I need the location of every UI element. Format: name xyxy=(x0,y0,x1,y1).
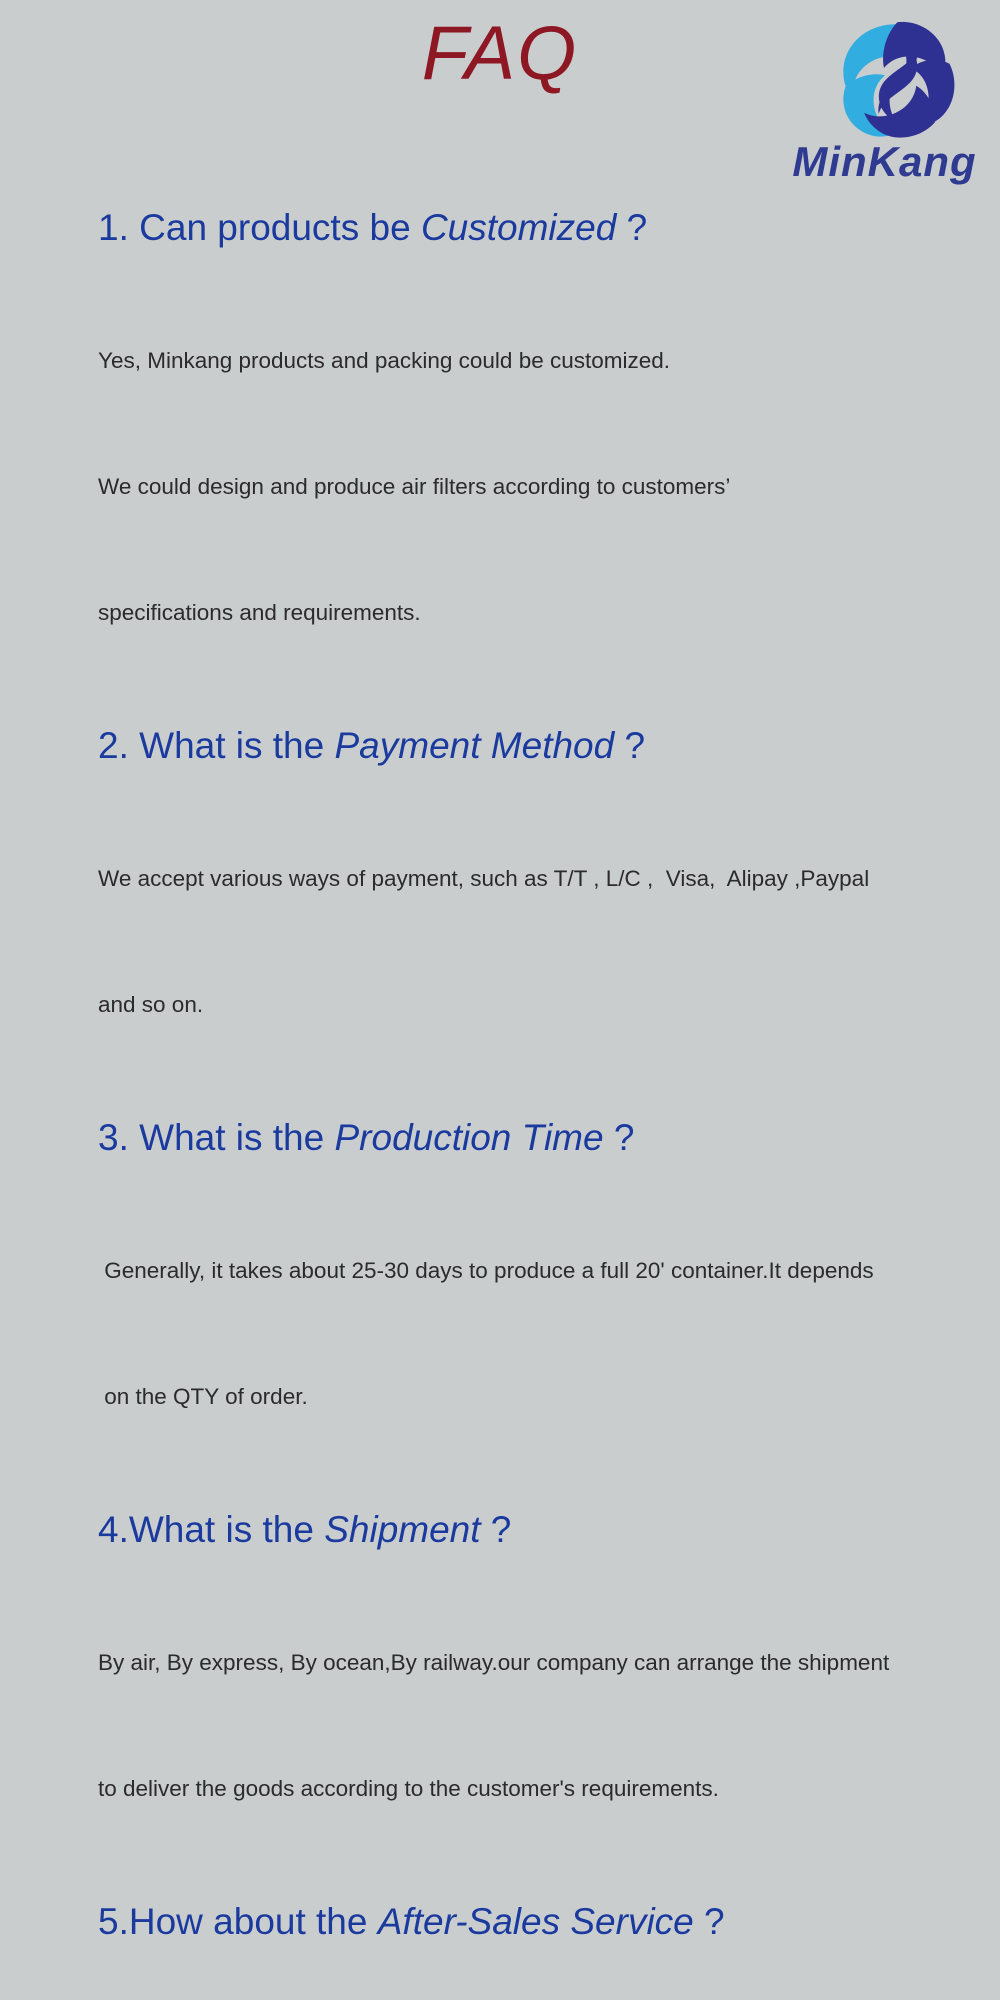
faq-list: 1. Can products be Customized ? Yes, Min… xyxy=(0,200,1000,2000)
faq-answer-3-line-1: Generally, it takes about 25-30 days to … xyxy=(98,1250,978,1292)
faq-answer-2: We accept various ways of payment, such … xyxy=(98,774,978,1110)
faq-answer-2-line-1: We accept various ways of payment, such … xyxy=(98,858,978,900)
faq-question-5-number: 5. xyxy=(98,1901,129,1942)
page-header: FAQ xyxy=(0,0,1000,200)
faq-question-5: 5.How about the After-Sales Service ? xyxy=(98,1894,980,1950)
faq-page: FAQ xyxy=(0,0,1000,1000)
faq-item-3: 3. What is the Production Time ? General… xyxy=(98,1110,980,1502)
faq-question-2: 2. What is the Payment Method ? xyxy=(98,718,980,774)
faq-question-3-emphasis: Production Time xyxy=(335,1117,604,1158)
faq-item-5: 5.How about the After-Sales Service ? Ou… xyxy=(98,1894,980,2000)
faq-question-3-suffix: ? xyxy=(604,1117,635,1158)
faq-question-1: 1. Can products be Customized ? xyxy=(98,200,980,256)
faq-question-1-suffix: ? xyxy=(616,207,647,248)
faq-question-4: 4.What is the Shipment ? xyxy=(98,1502,980,1558)
faq-question-1-number: 1. xyxy=(98,207,139,248)
faq-question-1-text: Can products be xyxy=(139,207,421,248)
faq-item-4: 4.What is the Shipment ? By air, By expr… xyxy=(98,1502,980,1894)
brand-logo: MinKang xyxy=(777,18,992,193)
faq-answer-3-line-2: on the QTY of order. xyxy=(98,1376,978,1418)
faq-answer-4-line-2: to deliver the goods according to the cu… xyxy=(98,1768,978,1810)
faq-question-2-suffix: ? xyxy=(614,725,645,766)
faq-answer-4: By air, By express, By ocean,By railway.… xyxy=(98,1558,978,1894)
pinwheel-logo-icon xyxy=(835,18,960,143)
faq-answer-3: Generally, it takes about 25-30 days to … xyxy=(98,1166,978,1502)
faq-question-2-emphasis: Payment Method xyxy=(335,725,615,766)
faq-question-4-emphasis: Shipment xyxy=(324,1509,480,1550)
faq-answer-1-line-3: specifications and requirements. xyxy=(98,592,978,634)
faq-answer-1: Yes, Minkang products and packing could … xyxy=(98,256,978,718)
faq-question-5-suffix: ? xyxy=(694,1901,725,1942)
faq-item-2: 2. What is the Payment Method ? We accep… xyxy=(98,718,980,1110)
faq-answer-1-line-2: We could design and produce air filters … xyxy=(98,466,978,508)
faq-question-4-suffix: ? xyxy=(481,1509,512,1550)
faq-answer-4-line-1: By air, By express, By ocean,By railway.… xyxy=(98,1642,978,1684)
faq-question-5-emphasis: After-Sales Service xyxy=(378,1901,694,1942)
faq-question-1-emphasis: Customized xyxy=(421,207,616,248)
faq-answer-2-line-2: and so on. xyxy=(98,984,978,1026)
faq-answer-5: Our company is responsible for the suppl… xyxy=(98,1950,978,2000)
faq-question-4-number: 4. xyxy=(98,1509,129,1550)
faq-question-3-text: What is the xyxy=(139,1117,334,1158)
faq-question-2-text: What is the xyxy=(139,725,334,766)
faq-question-4-text: What is the xyxy=(129,1509,324,1550)
brand-wordmark: MinKang xyxy=(777,140,992,184)
faq-question-2-number: 2. xyxy=(98,725,139,766)
faq-question-3: 3. What is the Production Time ? xyxy=(98,1110,980,1166)
faq-question-5-text: How about the xyxy=(129,1901,378,1942)
faq-answer-1-line-1: Yes, Minkang products and packing could … xyxy=(98,340,978,382)
faq-item-1: 1. Can products be Customized ? Yes, Min… xyxy=(98,200,980,718)
faq-question-3-number: 3. xyxy=(98,1117,139,1158)
